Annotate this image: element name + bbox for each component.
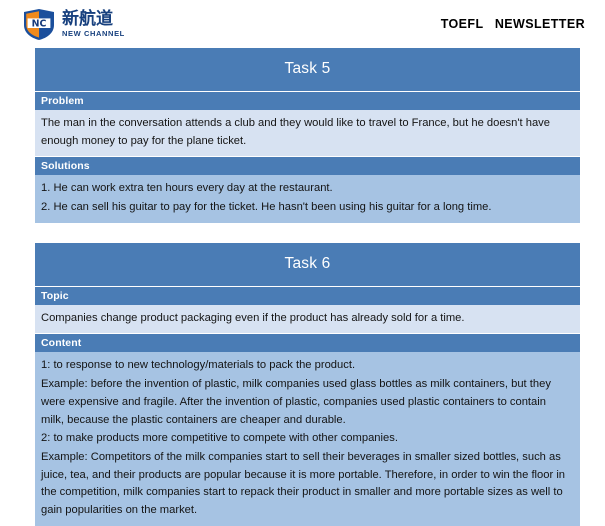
paragraph: The man in the conversation attends a cl… [41,115,572,150]
brand-name-cn: 新航道 [62,11,125,28]
section-body-topic: Companies change product packaging even … [35,305,580,334]
brand-logo: NC 新航道 NEW CHANNEL [22,8,125,41]
task-list: Task 5 Problem The man in the conversati… [0,48,605,526]
section-heading-content: Content [35,333,580,352]
task-block-5: Task 5 Problem The man in the conversati… [35,48,580,223]
task-title: Task 5 [35,48,580,91]
section-heading-solutions: Solutions [35,156,580,175]
paragraph: 2. He can sell his guitar to pay for the… [41,199,572,217]
section-heading-problem: Problem [35,91,580,110]
paragraph: Example: Competitors of the milk compani… [41,449,572,520]
section-body-content: 1: to response to new technology/materia… [35,352,580,525]
paragraph: 2: to make products more competitive to … [41,430,572,448]
brand-name-en: NEW CHANNEL [62,30,125,38]
brand-wordmark: 新航道 NEW CHANNEL [62,11,125,38]
section-body-problem: The man in the conversation attends a cl… [35,110,580,156]
new-channel-shield-logo: NC [22,8,56,41]
task-block-6: Task 6 Topic Companies change product pa… [35,243,580,526]
page-header: NC 新航道 NEW CHANNEL TOEFL NEWSLETTER [0,0,605,48]
page-title: TOEFL NEWSLETTER [441,17,585,31]
section-heading-topic: Topic [35,286,580,305]
paragraph: 1. He can work extra ten hours every day… [41,180,572,198]
svg-text:NC: NC [32,18,47,29]
section-body-solutions: 1. He can work extra ten hours every day… [35,175,580,222]
paragraph: Example: before the invention of plastic… [41,376,572,429]
paragraph: 1: to response to new technology/materia… [41,357,572,375]
task-title: Task 6 [35,243,580,286]
paragraph: Companies change product packaging even … [41,310,572,328]
